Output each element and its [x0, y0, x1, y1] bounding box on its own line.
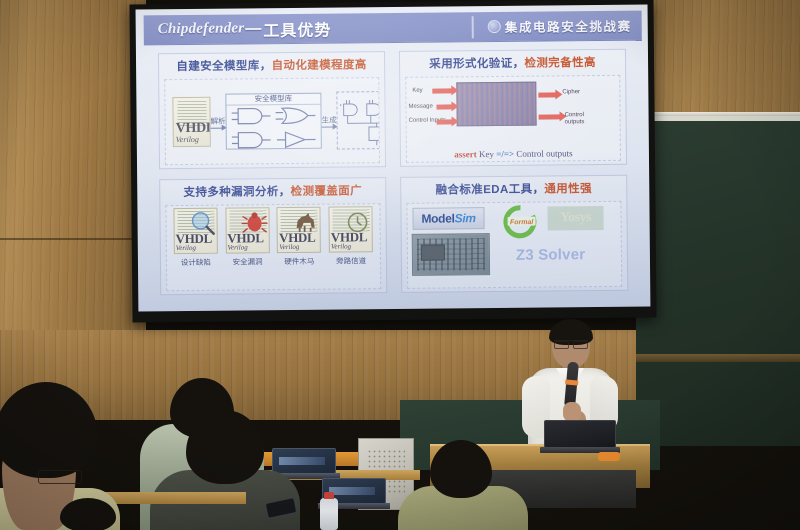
quadrant-1-body: VHDL Verilog 解析 安全模型库 [164, 78, 380, 166]
quadrant-1-heading-part-a: 自建安全模型库， [176, 60, 271, 73]
output-arrow-cipher [538, 93, 556, 98]
organizer-name: 集成电路安全挑战赛 [505, 16, 632, 36]
buffer-gate-icon [275, 128, 318, 150]
organizer-badge: 集成电路安全挑战赛 [488, 16, 632, 36]
formula-keyword: assert [454, 149, 477, 159]
audience-dark-coat-head [186, 410, 264, 484]
wall-seam [0, 238, 150, 240]
quadrant-security-model-library: 自建安全模型库，自动化建模程度高 VHDL Verilog [158, 51, 386, 169]
quadrant-4-heading-part-a: 融合标准EDA工具， [436, 184, 545, 197]
quadrant-1-heading: 自建安全模型库，自动化建模程度高 [164, 56, 379, 77]
quadrant-vulnerability-analysis: 支持多种漏洞分析，检测覆盖面广 [159, 177, 387, 295]
modelsim-logo-part1: Model [421, 212, 454, 226]
input-label-message: Message [408, 104, 432, 111]
hdl-card: VHDL Verilog [173, 208, 217, 254]
quadrant-1-heading-part-b: 自动化建模程度高 [272, 59, 367, 72]
vulnerability-card: VHDL Verilog 硬件木马 [273, 207, 326, 288]
eda-tool-logos: ModelSim Formal Yosys Z3 Solver [407, 202, 621, 288]
assertion-formula: assert Key =/=> Control outputs [407, 148, 620, 160]
orange-cable-reel [598, 452, 620, 461]
gate-tree-icon [337, 92, 380, 149]
card-caption: 设计缺陷 [181, 257, 211, 268]
arrow-line-icon [322, 126, 337, 127]
hdl-logo: VHDL Verilog [331, 231, 371, 251]
verilog-label: Verilog [176, 136, 209, 144]
presentation-slide: Chipdefender — 工具优势 集成电路安全挑战赛 自建安全模型库，自动… [136, 5, 651, 312]
input-arrow-message [436, 105, 452, 110]
water-bottle [320, 498, 338, 530]
quadrant-3-heading-part-b: 检测覆盖面广 [291, 185, 363, 198]
modelsim-logo-part2: Sim [455, 212, 476, 226]
slide-title-bar: Chipdefender — 工具优势 集成电路安全挑战赛 [144, 11, 642, 46]
and-gate-icon [230, 129, 273, 151]
presenter-hand [563, 402, 581, 422]
podium-laptop [540, 420, 620, 454]
hdl-card: VHDL Verilog [329, 207, 373, 253]
slide-brand-name: Chipdefender [158, 20, 245, 38]
slide-title-text: 工具优势 [263, 16, 331, 41]
quadrant-3-heading: 支持多种漏洞分析，检测覆盖面广 [165, 182, 380, 203]
chalkboard-right [636, 116, 800, 446]
input-arrow-key [432, 89, 452, 94]
generated-gate-tree [336, 91, 380, 150]
wall-panel-left [0, 0, 146, 345]
quadrant-4-heading-part-b: 通用性强 [544, 183, 592, 195]
verilog-label: Verilog [227, 245, 267, 252]
vulnerability-card-row: VHDL Verilog 设计缺陷 [166, 205, 380, 291]
input-arrow-control-inputs [437, 120, 453, 125]
projection-screen-frame: Chipdefender — 工具优势 集成电路安全挑战赛 自建安全模型库，自动… [129, 0, 656, 323]
quadrant-eda-tools: 融合标准EDA工具，通用性强 ModelSim Formal [400, 175, 628, 293]
audience-olive-shirt-head [430, 440, 492, 498]
formula-rhs: Control outputs [516, 148, 572, 159]
circuit-layout-block [456, 82, 536, 127]
formula-lhs: Key [479, 149, 494, 159]
slide-quadrant-grid: 自建安全模型库，自动化建模程度高 VHDL Verilog [158, 49, 628, 295]
output-label-cipher: Cipher [562, 90, 580, 96]
quadrant-2-body: Key Message Control Inputs Cipher Contro… [405, 75, 621, 163]
verilog-label: Verilog [331, 244, 371, 251]
laptop-screen [272, 448, 336, 474]
svg-text:Formal: Formal [510, 219, 534, 226]
audience-bottom-left-head [60, 498, 116, 530]
verilog-label: Verilog [279, 244, 319, 251]
card-caption: 硬件木马 [284, 256, 314, 267]
yosys-logo: Yosys [547, 206, 603, 231]
hdl-source-document: VHDL Verilog [172, 97, 210, 147]
quadrant-4-body: ModelSim Formal Yosys Z3 Solver [406, 201, 622, 289]
quadrant-2-heading-part-a: 采用形式化验证， [429, 58, 524, 71]
input-label-key: Key [412, 88, 422, 94]
audience-desk [96, 492, 246, 504]
laptop-screen [544, 420, 616, 448]
glasses-icon [38, 470, 82, 484]
vulnerability-card: VHDL Verilog 安全漏洞 [221, 208, 274, 289]
card-caption: 安全漏洞 [233, 257, 263, 268]
quadrant-3-heading-part-a: 支持多种漏洞分析， [183, 186, 290, 199]
card-caption: 旁路信道 [336, 256, 366, 267]
hdl-card: VHDL Verilog [225, 208, 269, 254]
projection-screen-surface: Chipdefender — 工具优势 集成电路安全挑战赛 自建安全模型库，自动… [136, 5, 651, 312]
vulnerability-card: VHDL Verilog 旁路信道 [325, 207, 378, 288]
quadrant-3-body: VHDL Verilog 设计缺陷 [165, 203, 381, 291]
hdl-logo: VHDL Verilog [176, 122, 209, 144]
glasses-icon [554, 340, 588, 346]
or-gate-icon [274, 105, 317, 127]
hdl-logo: VHDL Verilog [227, 232, 267, 252]
verilog-label: Verilog [176, 245, 216, 252]
hdl-card: VHDL Verilog [277, 207, 321, 253]
quadrant-4-heading: 融合标准EDA工具，通用性强 [406, 180, 621, 201]
formal-logo: Formal [499, 205, 541, 239]
vulnerability-card: VHDL Verilog 设计缺陷 [169, 208, 222, 289]
z3-solver-logo: Z3 Solver [516, 247, 586, 265]
security-model-library-label: 安全模型库 [226, 93, 320, 106]
arrow-line-icon [211, 127, 226, 128]
wall-panel-right-top [638, 0, 800, 116]
quadrant-2-heading-part-b: 检测完备性高 [524, 57, 596, 70]
modeling-flow-diagram: VHDL Verilog 解析 安全模型库 [165, 79, 379, 165]
security-model-library-box: 安全模型库 [225, 93, 322, 150]
formula-relation: =/=> [496, 149, 514, 159]
parse-arrow: 解析 [210, 107, 225, 137]
generate-arrow: 生成 [321, 106, 336, 136]
hdl-logo: VHDL Verilog [279, 231, 319, 251]
quadrant-formal-verification: 采用形式化验证，检测完备性高 Key Message Control Input… [399, 49, 627, 167]
and-gate-icon [229, 105, 272, 127]
formal-verification-diagram: Key Message Control Inputs Cipher Contro… [406, 76, 620, 162]
quadrant-2-heading: 采用形式化验证，检测完备性高 [405, 54, 620, 75]
lecture-hall-photo: Chipdefender — 工具优势 集成电路安全挑战赛 自建安全模型库，自动… [0, 0, 800, 530]
output-label-control-outputs: Control outputs [565, 112, 601, 125]
hdl-logo: VHDL Verilog [176, 232, 216, 252]
modelsim-logo: ModelSim [412, 207, 484, 230]
slide-title-dash: — [245, 20, 262, 38]
logic-gate-grid [229, 105, 317, 147]
output-arrow-control-outputs [539, 115, 561, 120]
organizer-logo-icon [488, 20, 501, 33]
title-divider [472, 16, 474, 38]
fpga-board-image [412, 233, 490, 276]
